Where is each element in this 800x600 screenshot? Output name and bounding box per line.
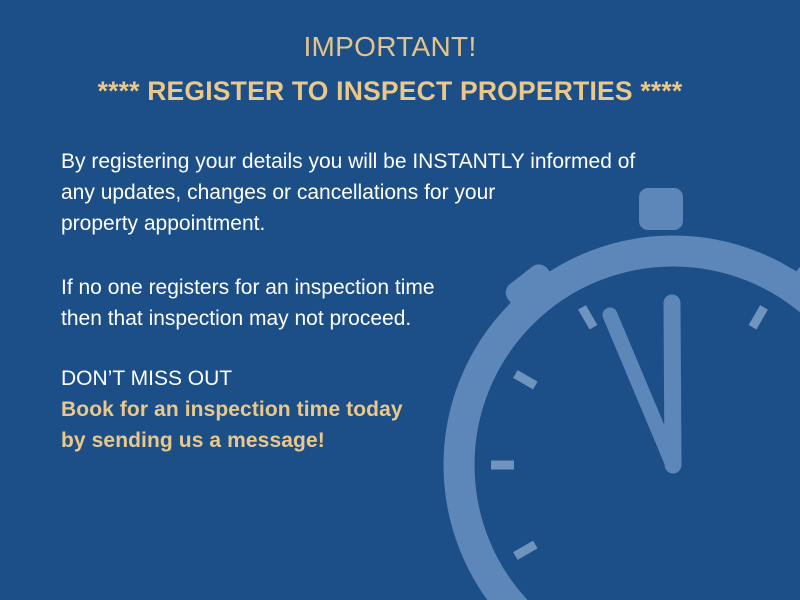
paragraph-2-line-1: If no one registers for an inspection ti… (61, 272, 721, 303)
cta-dont-miss-out: DON’T MISS OUT (61, 363, 721, 394)
paragraph-1-line-2: any updates, changes or cancellations fo… (61, 177, 721, 208)
paragraph-no-registration-warning: If no one registers for an inspection ti… (61, 272, 721, 334)
paragraph-registering-details: By registering your details you will be … (61, 146, 721, 239)
cta-book-inspection: Book for an inspection time today (61, 394, 721, 425)
paragraph-1-line-1: By registering your details you will be … (61, 146, 721, 177)
page-title-line-1: IMPORTANT! (0, 30, 780, 64)
paragraph-1-line-3: property appointment. (61, 208, 721, 239)
paragraph-2-line-2: then that inspection may not proceed. (61, 303, 721, 334)
paragraph-call-to-action: DON’T MISS OUT Book for an inspection ti… (61, 363, 721, 456)
page-title-line-2: **** REGISTER TO INSPECT PROPERTIES **** (0, 74, 780, 108)
cta-send-message: by sending us a message! (61, 425, 721, 456)
slide-canvas: IMPORTANT! **** REGISTER TO INSPECT PROP… (0, 0, 800, 600)
page-title: IMPORTANT! **** REGISTER TO INSPECT PROP… (0, 30, 780, 108)
